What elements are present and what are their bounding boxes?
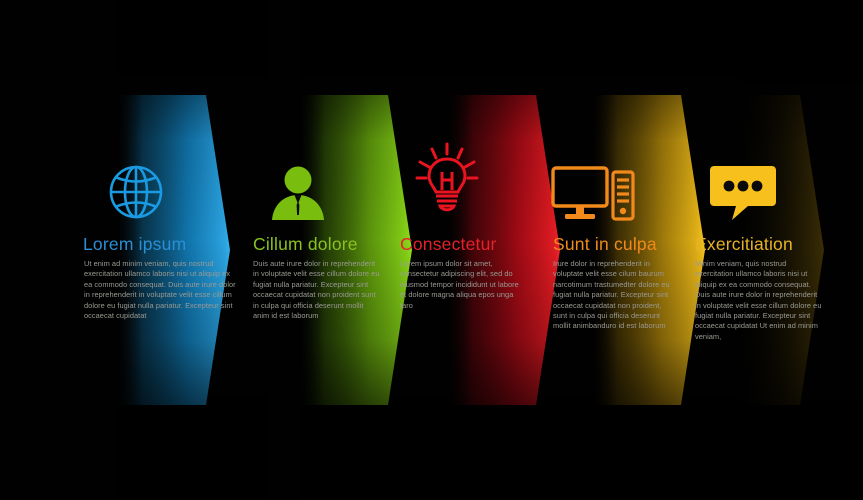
- step-heading-5: Exercitiation: [695, 234, 863, 255]
- steps-container: Lorem ipsum Ut enim ad minim veniam, qui…: [0, 0, 863, 500]
- step-body-1: Ut enim ad minim veniam, quis nostrud ex…: [84, 259, 236, 321]
- step-card-5[interactable]: Exercitiation Minim veniam, quis nostrud…: [668, 0, 863, 500]
- step-body-5: Minim veniam, quis nostrud exercitation …: [695, 259, 823, 342]
- step-body-4: Irure dolor in reprehenderit in voluptat…: [553, 259, 671, 332]
- step-body-2: Duis aute irure dolor in reprehenderit i…: [253, 259, 381, 321]
- speech-bubble-icon: [668, 160, 863, 222]
- infographic-canvas: Lorem ipsum Ut enim ad minim veniam, qui…: [0, 0, 863, 500]
- step-body-3: Lorem ipsum dolor sit amet, consectetur …: [400, 259, 520, 311]
